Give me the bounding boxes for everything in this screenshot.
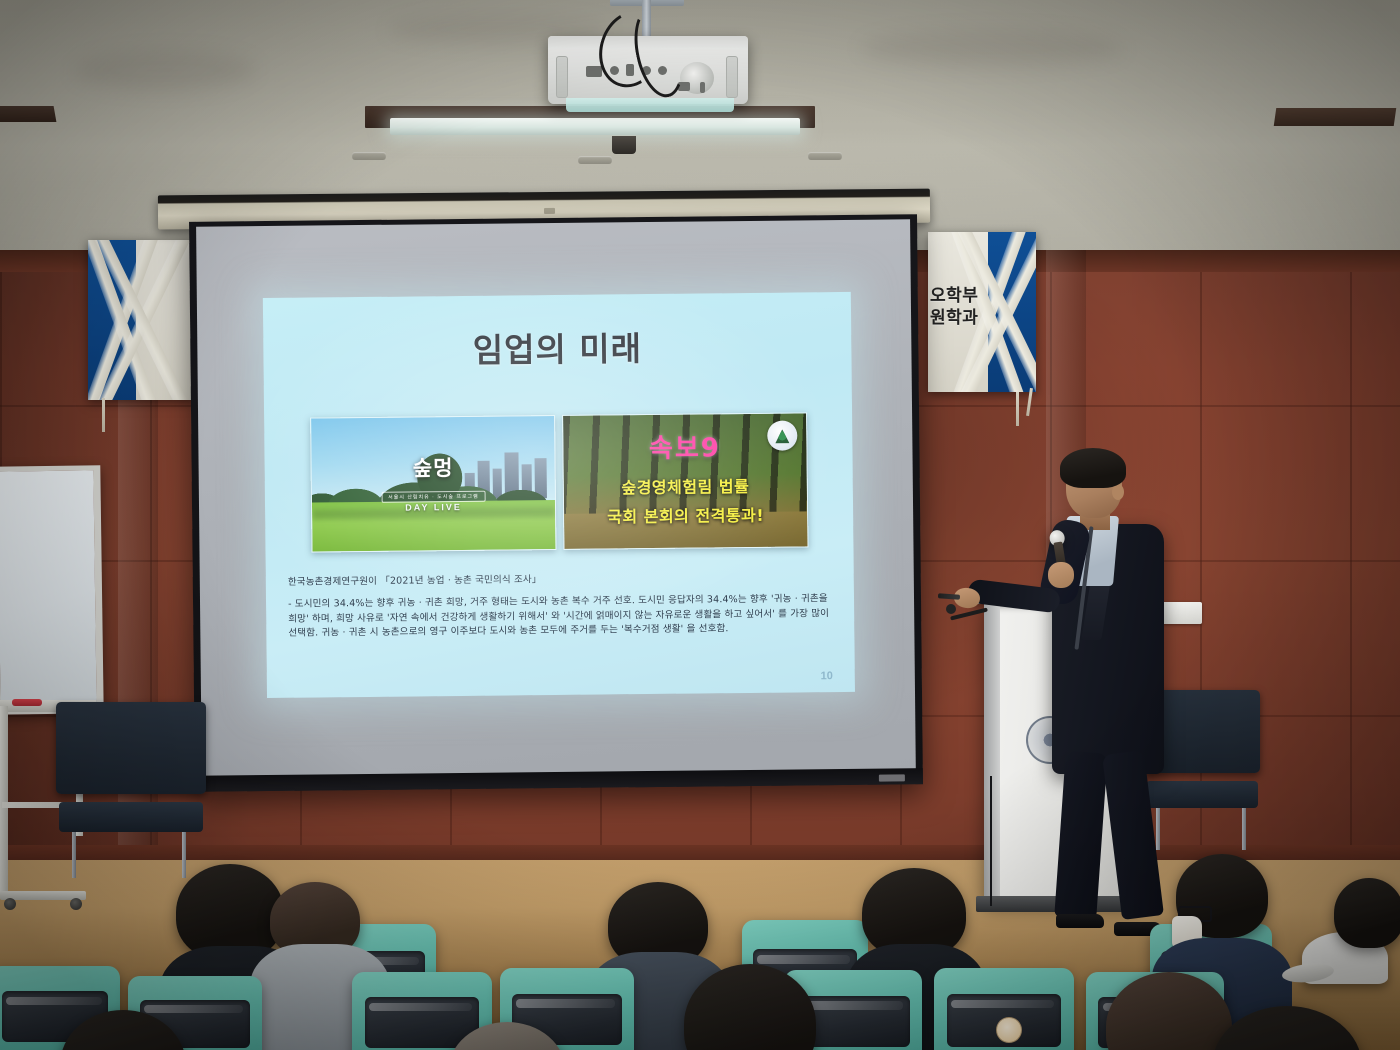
banner-right: 오학부 원학과 bbox=[928, 232, 1036, 392]
ceiling-smudge bbox=[861, 30, 1124, 66]
seat-highlight bbox=[951, 1000, 1055, 1008]
fluorescent-light bbox=[390, 118, 800, 135]
attendee-head bbox=[1334, 878, 1400, 948]
chair-back bbox=[56, 702, 206, 794]
slide-body-lead: 한국농촌경제연구원이 「2021년 농업 · 농촌 국민의식 조사」 bbox=[288, 570, 834, 590]
slide-page-number: 10 bbox=[821, 670, 833, 682]
stage-chair[interactable] bbox=[56, 702, 206, 878]
screen-surface: 임업의 미래 bbox=[196, 219, 916, 782]
banner-right-line2: 원학과 bbox=[930, 308, 978, 329]
presenter-hand-on-mic bbox=[1048, 562, 1074, 588]
slide-image-row: 숲멍 서울시 산림치유 · 도시숲 프로그램 DAY LIVE 속보9 숲경영체… bbox=[264, 412, 853, 558]
banner-right-line1: 오학부 bbox=[930, 286, 978, 307]
ceiling-vent bbox=[352, 152, 386, 160]
whiteboard-marker[interactable] bbox=[12, 699, 42, 706]
seat-highlight bbox=[144, 1005, 243, 1013]
photo-caption-main: 숲멍 bbox=[311, 451, 554, 484]
slide-body-paragraph: - 도시민의 34.4%는 향후 귀농 · 귀촌 희망, 거주 형태는 도시와 … bbox=[288, 593, 834, 642]
presenter bbox=[1012, 452, 1188, 922]
news-broadcast-photo: 속보9 숲경영체험림 법률 국회 본회의 전격통과! bbox=[562, 412, 808, 550]
ceiling-vent bbox=[808, 152, 842, 160]
seat-highlight bbox=[801, 1001, 903, 1009]
presenter-hair bbox=[1060, 448, 1126, 488]
seat-highlight bbox=[516, 999, 615, 1007]
projector-port bbox=[700, 82, 705, 93]
banner-x-pattern bbox=[88, 240, 196, 400]
seat-highlight bbox=[6, 997, 102, 1005]
banner-left bbox=[88, 240, 196, 400]
presentation-slide: 임업의 미래 bbox=[263, 292, 855, 698]
screen-brand-label bbox=[879, 774, 905, 781]
forest-park-city-photo: 숲멍 서울시 산림치유 · 도시숲 프로그램 DAY LIVE bbox=[310, 415, 556, 553]
projector-vent-right bbox=[726, 56, 738, 98]
mic-capsule bbox=[946, 604, 956, 614]
audience-area bbox=[0, 860, 1400, 1050]
lecture-hall-scene: 오학부 원학과 임업의 미래 bbox=[0, 0, 1400, 1050]
projector-light-output bbox=[566, 98, 734, 112]
slide-body-text: 한국농촌경제연구원이 「2021년 농업 · 농촌 국민의식 조사」 - 도시민… bbox=[288, 570, 835, 641]
projector-port bbox=[586, 66, 602, 77]
screen-pull-tab[interactable] bbox=[544, 208, 555, 214]
mobile-whiteboard[interactable] bbox=[0, 465, 104, 714]
chair-seat bbox=[59, 802, 203, 832]
ceiling-speaker bbox=[612, 136, 636, 154]
chair-leg bbox=[1242, 808, 1246, 850]
projection-screen[interactable]: 임업의 미래 bbox=[189, 214, 923, 792]
lectern-edge bbox=[984, 600, 1000, 900]
audience-seat[interactable] bbox=[934, 968, 1074, 1050]
projector-vent-left bbox=[556, 56, 568, 98]
banner-right-cord bbox=[1016, 392, 1019, 426]
ceiling-recess-left bbox=[0, 106, 56, 122]
news-line-2: 국회 본회의 전격통과! bbox=[564, 501, 807, 528]
seat-highlight bbox=[757, 955, 850, 964]
seat-highlight bbox=[369, 1003, 473, 1011]
news-line-1: 숲경영체험림 법률 bbox=[564, 472, 807, 499]
news-headline: 속보9 bbox=[563, 427, 806, 467]
ceiling-recess-right bbox=[1274, 108, 1397, 126]
seat-number-sticker bbox=[996, 1017, 1022, 1043]
ceiling-vent bbox=[578, 156, 612, 164]
slide-title: 임업의 미래 bbox=[263, 320, 851, 374]
banner-left-cord bbox=[102, 398, 105, 432]
